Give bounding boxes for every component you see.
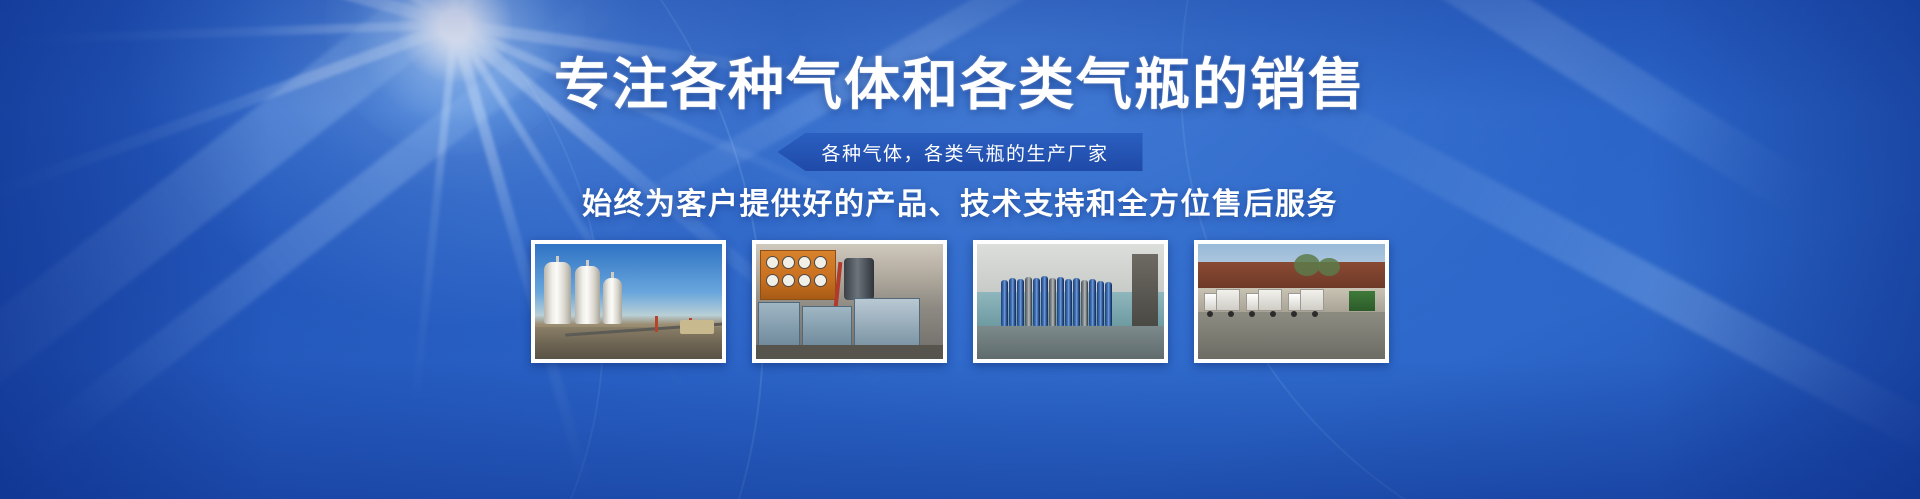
photo-control-panel-image	[756, 244, 943, 359]
photo-control-panel[interactable]	[752, 240, 947, 363]
banner-ribbon-container: 各种气体，各类气瓶的生产厂家	[0, 133, 1920, 171]
banner-tagline: 始终为客户提供好的产品、技术支持和全方位售后服务	[0, 186, 1920, 224]
hero-banner: 专注各种气体和各类气瓶的销售 各种气体，各类气瓶的生产厂家 始终为客户提供好的产…	[0, 0, 1920, 499]
photo-gas-cylinders[interactable]	[973, 240, 1168, 363]
photo-storage-tanks[interactable]	[531, 240, 726, 363]
photo-delivery-trucks-image	[1198, 244, 1385, 359]
banner-headline: 专注各种气体和各类气瓶的销售	[0, 54, 1920, 116]
photo-gas-cylinders-image	[977, 244, 1164, 359]
photo-gallery	[0, 240, 1920, 363]
photo-storage-tanks-image	[535, 244, 722, 359]
banner-ribbon: 各种气体，各类气瓶的生产厂家	[777, 133, 1142, 171]
photo-delivery-trucks[interactable]	[1194, 240, 1389, 363]
